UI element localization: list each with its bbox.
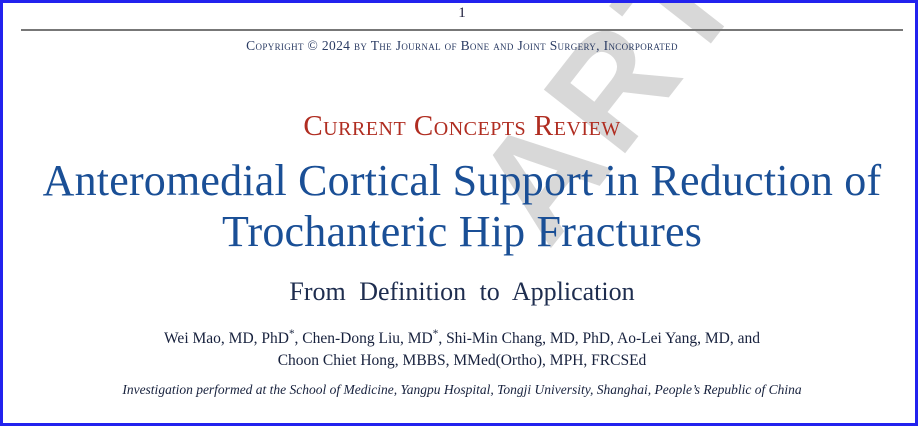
page-number: 1 (3, 5, 918, 22)
author-line-1-part-3: , Shi-Min Chang, MD, PhD, Ao-Lei Yang, M… (438, 330, 760, 347)
section-header: Current Concepts Review (3, 110, 918, 143)
author-line-1-part-1: Wei Mao, MD, PhD (164, 330, 289, 347)
copyright-line: Copyright © 2024 by The Journal of Bone … (3, 38, 918, 54)
journal-title-page: ARTICLE 1 Copyright © 2024 by The Journa… (0, 0, 918, 426)
author-line-1-part-2: , Chen-Dong Liu, MD (295, 330, 433, 347)
page-title-line-2: Trochanteric Hip Fractures (3, 206, 918, 257)
author-list: Wei Mao, MD, PhD*, Chen-Dong Liu, MD*, S… (3, 327, 918, 372)
affiliation-line: Investigation performed at the School of… (3, 382, 918, 398)
page-title-line-1: Anteromedial Cortical Support in Reducti… (3, 155, 918, 206)
page-subtitle: From Definition to Application (3, 277, 918, 307)
header-rule (21, 29, 903, 31)
author-line-2: Choon Chiet Hong, MBBS, MMed(Ortho), MPH… (3, 350, 918, 372)
author-line-1: Wei Mao, MD, PhD*, Chen-Dong Liu, MD*, S… (3, 327, 918, 350)
page-title: Anteromedial Cortical Support in Reducti… (3, 155, 918, 257)
